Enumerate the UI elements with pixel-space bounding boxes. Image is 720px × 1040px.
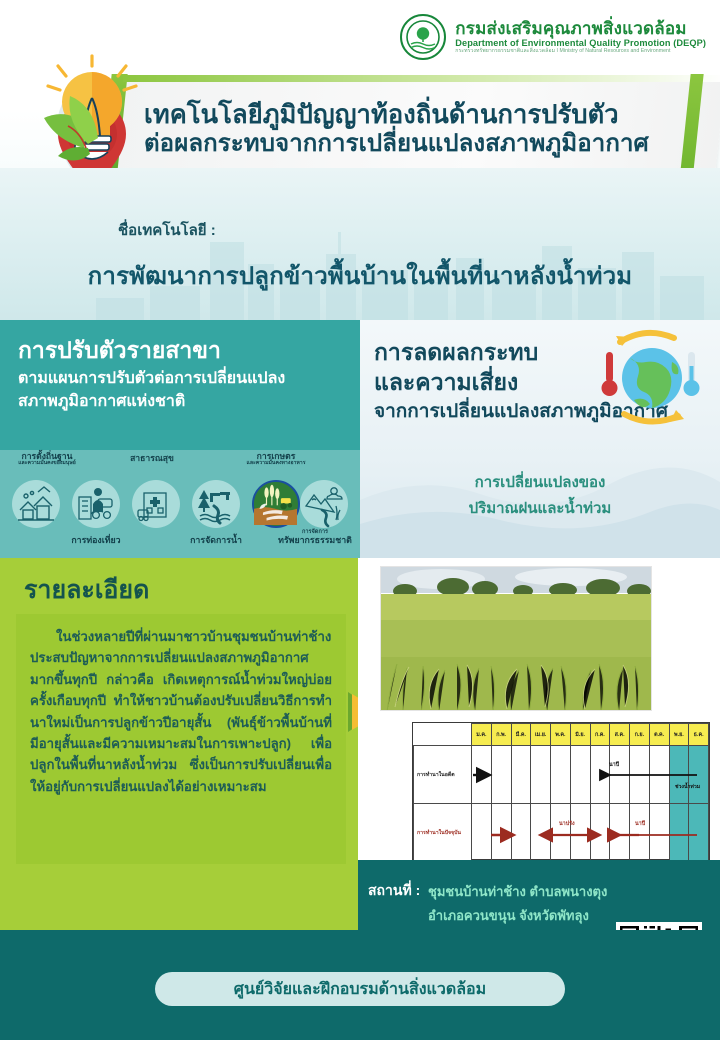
place-line-1: ชุมชนบ้านท่าช้าง ตำบลพนางตุง [428, 881, 607, 902]
org-name-th: กรมส่งเสริมคุณภาพสิ่งแวดล้อม [455, 19, 706, 38]
calendar-corner-cell [414, 724, 472, 746]
impact-reduction-panel: การลดผลกระทบ และความเสี่ยง จากการเปลี่ยน… [360, 320, 720, 558]
org-name-en: Department of Environmental Quality Prom… [455, 38, 706, 48]
calendar-flood-cell-nov-present [669, 804, 689, 862]
technology-name-value: การพัฒนาการปลูกข้าวพื้นบ้านในพื้นที่นาหล… [0, 256, 720, 295]
place-line-2: อำเภอควนขนุน จังหวัดพัทลุง [428, 905, 589, 926]
public-health-hospital-icon [132, 480, 180, 528]
sector-label-tourism: การท่องเที่ยว [56, 536, 136, 545]
calendar-month-apr: เม.ย. [531, 724, 551, 746]
impact-title-line-1: การลดผลกระทบ [374, 338, 538, 367]
calendar-label-naprang: นาปรัง [559, 820, 575, 828]
sector-label-natural-resources: การจัดการ ทรัพยากรธรรมชาติ [272, 530, 358, 545]
sector-panel-title: การปรับตัวรายสาขา [18, 336, 344, 366]
calendar-row-label-present: การทำนาในปัจจุบัน [414, 804, 472, 862]
poster-root: กรมส่งเสริมคุณภาพสิ่งแวดล้อม Department … [0, 0, 720, 1040]
details-body-text: ในช่วงหลายปีที่ผ่านมาชาวบ้านชุมชนบ้านท่า… [30, 626, 332, 797]
deqp-tree-leaf-logo-icon [400, 14, 446, 60]
water-management-river-tap-icon [192, 480, 240, 528]
sector-panel-heading: การปรับตัวรายสาขา ตามแผนการปรับตัวต่อการ… [0, 320, 360, 413]
settlement-houses-icon [12, 480, 60, 528]
calendar-annotation-naprang [551, 804, 571, 862]
impact-subtitle-1: การเปลี่ยนแปลงของ [360, 470, 720, 494]
org-ministry: กระทรวงทรัพยากรธรรมชาติและสิ่งแวดล้อม I … [455, 49, 706, 55]
sector-label-agriculture: การเกษตร และความมั่นคงทางอาหาร [228, 452, 324, 466]
sector-panel-subtitle-1: ตามแผนการปรับตัวต่อการเปลี่ยนแปลง [18, 368, 344, 391]
technology-name-band: ชื่อเทคโนโลยี : การพัฒนาการปลูกข้าวพื้นบ… [0, 168, 720, 320]
calendar-month-jul: ก.ค. [590, 724, 610, 746]
calendar-month-may: พ.ค. [551, 724, 571, 746]
sector-icon-strip: การตั้งถิ่นฐาน และความมั่นคงของมนุษย์ สา… [0, 450, 360, 558]
title-line-1: เทคโนโลยีภูมิปัญญาท้องถิ่นด้านการปรับตัว [144, 100, 700, 130]
sector-panel-subtitle-2: สภาพภูมิอากาศแห่งชาติ [18, 391, 344, 414]
agriculture-rice-tractor-icon [252, 480, 300, 528]
calendar-grid: ม.ค. ก.พ. มี.ค. เม.ย. พ.ค. มิ.ย. ก.ค. ส.… [413, 723, 709, 862]
calendar-month-jan: ม.ค. [472, 724, 492, 746]
deqp-logo-block: กรมส่งเสริมคุณภาพสิ่งแวดล้อม Department … [400, 14, 706, 60]
sector-label-settlement: การตั้งถิ่นฐาน และความมั่นคงของมนุษย์ [4, 452, 90, 466]
calendar-month-feb: ก.พ. [491, 724, 511, 746]
sector-label-water-management: การจัดการน้ำ [176, 536, 256, 545]
calendar-row-past: การทำนาในอดีต [414, 746, 709, 804]
farming-calendar-table: ม.ค. ก.พ. มี.ค. เม.ย. พ.ค. มิ.ย. ก.ค. ส.… [412, 722, 710, 860]
details-title: รายละเอียด [24, 570, 149, 610]
calendar-annotation-napi-past [610, 746, 630, 804]
impact-title-line-2: และความเสี่ยง [374, 368, 518, 397]
footer-center-pill: ศูนย์วิจัยและฝึกอบรมด้านสิ่งแวดล้อม [155, 972, 565, 1006]
details-body-box: ในช่วงหลายปีที่ผ่านมาชาวบ้านชุมชนบ้านท่า… [16, 614, 346, 864]
calendar-label-napi-past: นาปี [609, 761, 619, 769]
impact-subtitle-2: ปริมาณฝนและน้ำท่วม [360, 496, 720, 520]
tourism-city-car-icon [72, 480, 120, 528]
sector-adaptation-panel: การปรับตัวรายสาขา ตามแผนการปรับตัวต่อการ… [0, 320, 360, 558]
calendar-month-jun: มิ.ย. [570, 724, 590, 746]
calendar-header-row: ม.ค. ก.พ. มี.ค. เม.ย. พ.ค. มิ.ย. ก.ค. ส.… [414, 724, 709, 746]
calendar-label-napi-present: นาปี [635, 820, 645, 828]
calendar-flood-cell-dec-present [689, 804, 709, 862]
calendar-month-dec: ธ.ค. [689, 724, 709, 746]
footer-center-name: ศูนย์วิจัยและฝึกอบรมด้านสิ่งแวดล้อม [234, 977, 486, 1002]
globe-thermometer-climate-icon [590, 326, 708, 430]
poster-title: เทคโนโลยีภูมิปัญญาท้องถิ่นด้านการปรับตัว… [130, 86, 700, 172]
details-panel: รายละเอียด ในช่วงหลายปีที่ผ่านมาชาวบ้านช… [0, 558, 358, 930]
rice-field-photo [380, 566, 652, 711]
calendar-month-mar: มี.ค. [511, 724, 531, 746]
calendar-month-nov: พ.ย. [669, 724, 689, 746]
title-line-2: ต่อผลกระทบจากการเปลี่ยนแปลงสภาพภูมิอากาศ [144, 130, 700, 158]
calendar-row-present: การทำนาในปัจจุบัน [414, 804, 709, 862]
calendar-row-label-past: การทำนาในอดีต [414, 746, 472, 804]
calendar-month-sep: ก.ย. [630, 724, 650, 746]
technology-name-label: ชื่อเทคโนโลยี : [118, 218, 216, 242]
calendar-month-oct: ต.ค. [649, 724, 669, 746]
calendar-flood-cell-nov-past [669, 746, 689, 804]
calendar-month-aug: ส.ค. [610, 724, 630, 746]
calendar-label-flood-period: ช่วงน้ำท่วม [675, 783, 711, 791]
calendar-flood-cell-dec-past [689, 746, 709, 804]
calendar-annotation-napi-present [630, 804, 650, 862]
sector-label-public-health: สาธารณสุข [112, 454, 192, 463]
place-label: สถานที่ : [368, 880, 420, 902]
natural-resources-mountain-icon [300, 480, 348, 528]
deqp-text-block: กรมส่งเสริมคุณภาพสิ่งแวดล้อม Department … [455, 19, 706, 55]
